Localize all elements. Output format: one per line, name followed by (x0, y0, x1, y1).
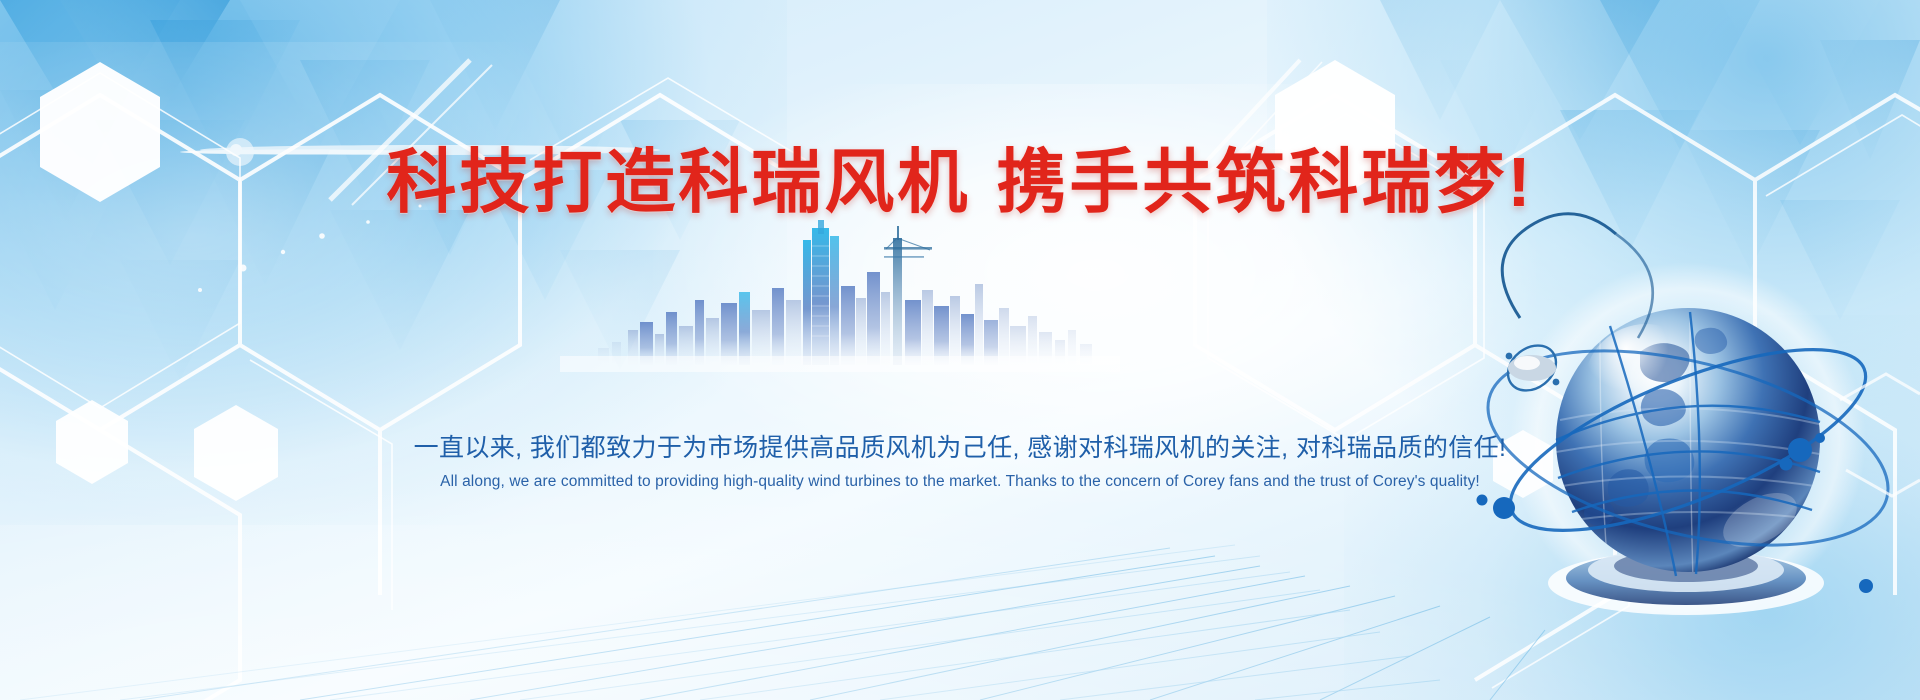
globe-graphic (0, 0, 1920, 700)
glow-overlays (0, 0, 1920, 700)
banner-headline: 科技打造科瑞风机携手共筑科瑞梦! (0, 126, 1920, 227)
promo-banner: 科技打造科瑞风机携手共筑科瑞梦! 一直以来, 我们都致力于为市场提供高品质风机为… (0, 0, 1920, 700)
orbit-node-dots (1477, 390, 1920, 593)
headline-part-1: 科技打造科瑞风机 (386, 143, 970, 221)
skyline-window-texture (812, 246, 829, 336)
blue-wash-top-right (1267, 0, 1920, 490)
perspective-floor-grid (20, 545, 1545, 700)
globe-orbit-rings (1468, 214, 1907, 581)
background-gradient (0, 0, 1920, 700)
hexagon-network-pattern (0, 0, 1920, 700)
banner-subtitle-english: All along, we are committed to providing… (0, 473, 1920, 491)
glow-bottom (0, 455, 1920, 700)
skyline-buildings (598, 220, 1092, 365)
blue-wash-bottom-right (1344, 315, 1920, 700)
globe-pedestal (1548, 548, 1824, 615)
banner-subtitle-chinese: 一直以来, 我们都致力于为市场提供高品质风机为己任, 感谢对科瑞风机的关注, 对… (0, 428, 1920, 464)
headline-part-2: 携手共筑科瑞梦! (996, 143, 1533, 221)
city-skyline-graphic (0, 0, 1920, 700)
satellite-node (1499, 336, 1565, 400)
